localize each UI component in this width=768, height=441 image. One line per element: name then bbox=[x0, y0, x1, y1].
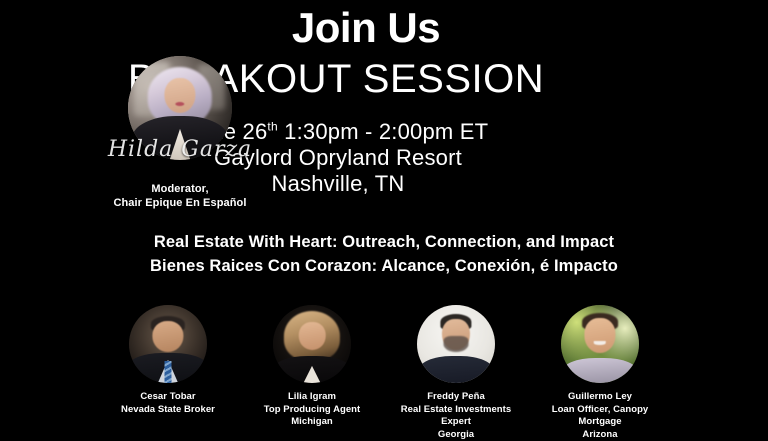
moderator-photo bbox=[128, 56, 232, 160]
speaker-name: Lilia Igram bbox=[248, 391, 376, 404]
photo-face bbox=[299, 322, 326, 350]
photo-smile bbox=[594, 341, 606, 345]
photo-shirt bbox=[562, 358, 638, 383]
speaker-guillermo-ley: Guillermo Ley Loan Officer, Canopy Mortg… bbox=[536, 305, 664, 441]
moderator-block: Hilda Garza Moderator, Chair Epique En E… bbox=[95, 56, 265, 210]
speaker-location: Georgia bbox=[392, 429, 520, 441]
event-time: 1:30pm - 2:00pm ET bbox=[278, 119, 488, 144]
speaker-photo bbox=[129, 305, 207, 383]
speaker-name: Freddy Peña bbox=[392, 391, 520, 404]
speaker-photo bbox=[561, 305, 639, 383]
session-titles: Real Estate With Heart: Outreach, Connec… bbox=[0, 230, 768, 278]
speaker-freddy-pena: Freddy Peña Real Estate Investments Expe… bbox=[392, 305, 520, 441]
speakers-row: Cesar Tobar Nevada State Broker Lilia Ig… bbox=[104, 305, 664, 441]
speaker-name: Cesar Tobar bbox=[104, 391, 232, 404]
speaker-role: Loan Officer, Canopy Mortgage bbox=[536, 404, 664, 429]
photo-tie bbox=[164, 361, 171, 383]
speaker-caption: Cesar Tobar Nevada State Broker bbox=[104, 391, 232, 416]
session-title-english: Real Estate With Heart: Outreach, Connec… bbox=[0, 230, 768, 254]
speaker-location: Michigan bbox=[248, 416, 376, 429]
speaker-name: Guillermo Ley bbox=[536, 391, 664, 404]
speaker-role: Nevada State Broker bbox=[104, 404, 232, 417]
speaker-caption: Freddy Peña Real Estate Investments Expe… bbox=[392, 391, 520, 441]
speaker-caption: Guillermo Ley Loan Officer, Canopy Mortg… bbox=[536, 391, 664, 441]
session-title-spanish: Bienes Raices Con Corazon: Alcance, Cone… bbox=[0, 254, 768, 278]
speaker-cesar-tobar: Cesar Tobar Nevada State Broker bbox=[104, 305, 232, 416]
headline-join-us: Join Us bbox=[0, 4, 750, 52]
speaker-role: Real Estate Investments Expert bbox=[392, 404, 520, 429]
speaker-location: Arizona bbox=[536, 429, 664, 441]
speaker-lilia-igram: Lilia Igram Top Producing Agent Michigan bbox=[248, 305, 376, 429]
speaker-role: Top Producing Agent bbox=[248, 404, 376, 417]
photo-beard bbox=[444, 336, 469, 352]
date-ordinal-suffix: th bbox=[267, 120, 277, 134]
speaker-caption: Lilia Igram Top Producing Agent Michigan bbox=[248, 391, 376, 429]
flyer-canvas: Join Us BREAKOUT SESSION June 26th 1:30p… bbox=[0, 0, 768, 432]
moderator-role: Moderator, bbox=[95, 182, 265, 196]
moderator-title: Chair Epique En Español bbox=[95, 196, 265, 210]
speaker-photo bbox=[273, 305, 351, 383]
photo-shirt bbox=[419, 356, 494, 383]
moderator-caption: Moderator, Chair Epique En Español bbox=[95, 182, 265, 210]
speaker-photo bbox=[417, 305, 495, 383]
